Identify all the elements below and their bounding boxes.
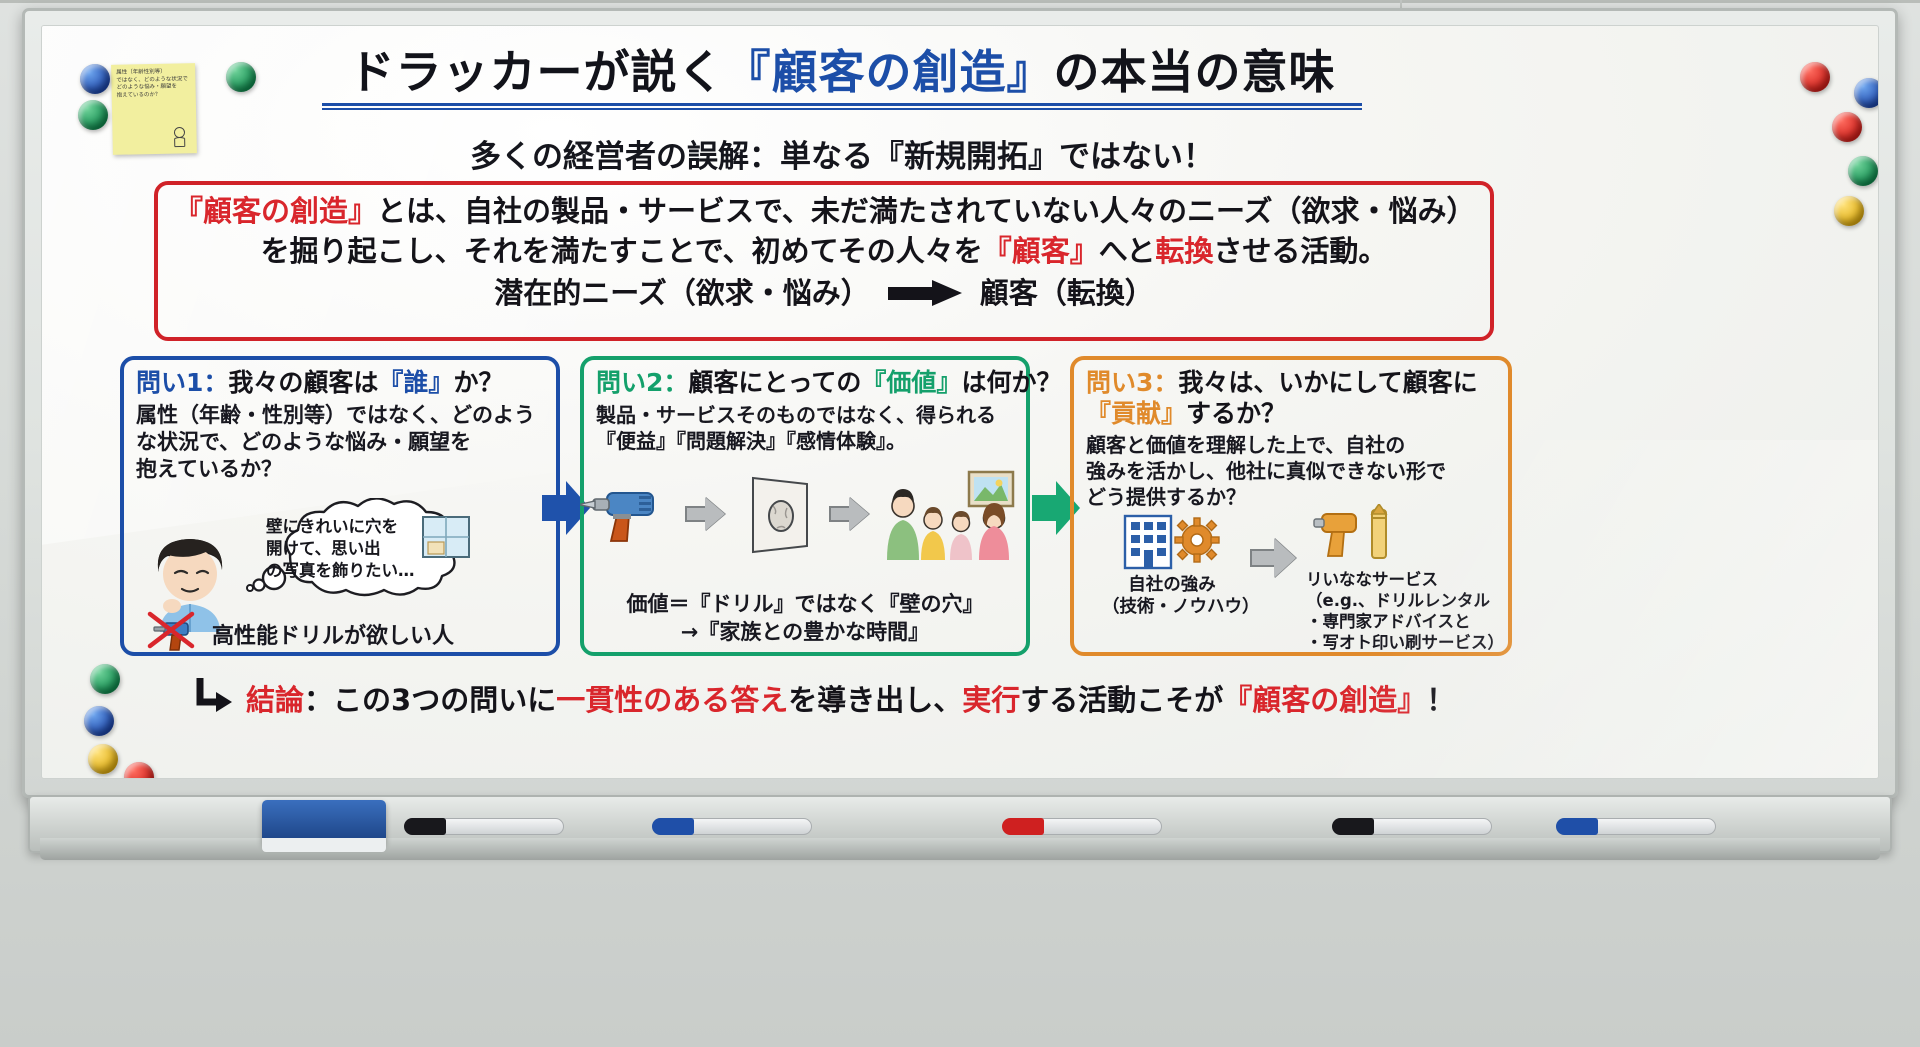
definition-flow-row: 潜在的ニーズ（欲求・悩み） 顧客（転換） xyxy=(170,273,1478,313)
definition-line-1-rest: とは、自社の製品・サービスで、未だ満たされていない人々のニーズ（欲求・悩み） xyxy=(377,194,1476,228)
question-3-head-post: するか？ xyxy=(1186,399,1286,428)
conclusion-t2: を導き出し、 xyxy=(788,683,962,717)
conclusion-label: 結論 xyxy=(246,683,304,717)
question-box-2[interactable]: 問い2：顧客にとっての『価値』は何か？ 製品・サービスそのものではなく、得られる… xyxy=(580,356,1030,656)
elbow-arrow-icon xyxy=(192,676,236,720)
question-1-heading: 問い1：我々の顧客は『誰』か？ xyxy=(136,368,544,399)
flow-to-label: 顧客（転換） xyxy=(980,273,1154,313)
conclusion-t3: する活動こそが xyxy=(1020,683,1223,717)
title-highlight: 『顧客の創造』 xyxy=(725,45,1054,99)
title-pre: ドラッカーが説く xyxy=(349,45,725,99)
definition-line-2-b: へと xyxy=(1099,234,1156,268)
bubble-line-1: 壁にきれいに穴を xyxy=(266,516,516,538)
crossed-out-drill-icon xyxy=(144,608,198,652)
question-1-label: 問い1： xyxy=(136,368,228,397)
whiteboard-eraser-felt xyxy=(262,838,386,852)
conclusion-text: 結論：この3つの問いに一貫性のある答えを導き出し、実行する活動こそが『顧客の創造… xyxy=(246,677,1455,719)
question-1-head-pre: 我々の顧客は xyxy=(228,368,378,397)
definition-line-2-a: を掘り起こし、それを満たすことで、初めてその人々を xyxy=(261,234,983,268)
gray-arrow-icon xyxy=(685,497,725,531)
conclusion-t1: ：この3つの問いに xyxy=(304,683,556,717)
question-2-heading: 問い2：顧客にとっての『価値』は何か？ xyxy=(596,368,1014,399)
bubble-line-3: の写真を飾りたい… xyxy=(266,560,516,582)
question-2-head-highlight: 『価値』 xyxy=(861,368,961,397)
question-1-body-line-2: な状況で、どのような悩み・願望を xyxy=(136,429,544,456)
gray-arrow-icon-3 xyxy=(1250,538,1296,578)
family-photo-icon xyxy=(881,468,1031,560)
question-2-body-line-2: 『便益』『問題解決』『感情体験』。 xyxy=(596,428,1014,454)
question-2-head-post: は何か？ xyxy=(961,368,1061,397)
marker-blue-cap xyxy=(652,818,694,835)
right-arrow-icon xyxy=(888,280,962,306)
question-1-body-line-3: 抱えているか？ xyxy=(136,456,544,483)
conclusion-highlight-3: 『顧客の創造』 xyxy=(1223,683,1426,717)
building-gear-icon xyxy=(1119,510,1225,570)
definition-line-1: 『顧客の創造』とは、自社の製品・サービスで、未だ満たされていない人々のニーズ（欲… xyxy=(170,191,1478,231)
title-underline xyxy=(322,103,1362,110)
page-title: ドラッカーが説く『顧客の創造』の本当の意味 xyxy=(292,48,1392,96)
question-1-bubble-text: 壁にきれいに穴を 開けて、思い出 の写真を飾りたい… xyxy=(266,516,516,581)
question-2-foot-line-2: →『家族との豊かな時間』 xyxy=(584,619,1026,646)
question-3-heading-line-2: 『貢献』するか？ xyxy=(1086,399,1496,430)
definition-kokyaku: 『顧客』 xyxy=(983,234,1099,268)
definition-tenkan: 転換 xyxy=(1155,234,1213,268)
question-1-head-post: か？ xyxy=(453,368,503,397)
subtitle: 多くの経営者の誤解：単なる『新規開拓』ではない！ xyxy=(292,131,1392,176)
question-box-1[interactable]: 問い1：我々の顧客は『誰』か？ 属性（年齢・性別等）ではなく、どのよう な状況で… xyxy=(120,356,560,656)
flow-from-label: 潜在的ニーズ（欲求・悩み） xyxy=(494,273,870,313)
question-3-body-line-2: 強みを活かし、他社に真似できない形で xyxy=(1086,458,1496,484)
question-2-label: 問い2： xyxy=(596,368,688,397)
question-3-head-pre: 我々は、いかにして顧客に xyxy=(1178,368,1477,397)
conclusion-row: 結論：この3つの問いに一貫性のある答えを導き出し、実行する活動こそが『顧客の創造… xyxy=(192,676,1522,720)
question-3-service-block: リいななサービス （e.g.、ドリルレンタル ・専門家アドバイスと ・写オト印い… xyxy=(1306,504,1516,654)
question-3-mid-arrow xyxy=(1250,538,1296,582)
question-2-footer: 価値＝『ドリル』ではなく『壁の穴』 →『家族との豊かな時間』 xyxy=(584,591,1026,646)
question-3-illustration: 自社の強み （技術・ノウハウ） xyxy=(1080,510,1510,660)
definition-line-2: を掘り起こし、それを満たすことで、初めてその人々を『顧客』へと転換させる活動。 xyxy=(170,231,1478,271)
drill-pen-icon xyxy=(1312,504,1408,566)
question-3-body-line-1: 顧客と価値を理解した上で、自社の xyxy=(1086,432,1496,458)
window-picture-icon xyxy=(420,514,472,560)
drill-icon xyxy=(577,485,673,543)
title-post: の本当の意味 xyxy=(1054,45,1336,99)
question-box-3[interactable]: 問い3：我々は、いかにして顧客に 『貢献』するか？ 顧客と価値を理解した上で、自… xyxy=(1070,356,1512,656)
question-1-head-highlight: 『誰』 xyxy=(378,368,453,397)
wall-seam-top xyxy=(0,0,1920,3)
question-3-right-line-1: リいななサービス xyxy=(1306,570,1516,591)
question-2-head-pre: 顧客にとっての xyxy=(688,368,861,397)
marker-red-cap xyxy=(1002,818,1044,835)
question-3-left-caption-2: （技術・ノウハウ） xyxy=(1102,596,1242,618)
board-content: ドラッカーが説く『顧客の創造』の本当の意味 多くの経営者の誤解：単なる『新規開拓… xyxy=(42,26,1878,778)
wall-hole-icon xyxy=(737,472,817,556)
marker-black-2-cap xyxy=(1332,818,1374,835)
question-1-foot-text: 高性能ドリルが欲しい人 xyxy=(212,618,454,650)
conclusion-highlight-2: 実行 xyxy=(962,683,1020,717)
whiteboard-surface[interactable]: 属性（年齢性別等） ではなく、どのような状況で どのような悩み・願望を 抱えてい… xyxy=(41,25,1879,779)
question-1-illustration: 壁にきれいに穴を 開けて、思い出 の写真を飾りたい… xyxy=(124,492,556,660)
question-3-strength-block: 自社の強み （技術・ノウハウ） xyxy=(1102,510,1242,618)
gray-arrow-icon-2 xyxy=(829,497,869,531)
definition-term: 『顧客の創造』 xyxy=(174,194,377,228)
question-3-label: 問い3： xyxy=(1086,368,1178,397)
question-2-illustration xyxy=(594,464,1014,564)
question-3-right-line-4: ・写オト印い刷サービス） xyxy=(1306,633,1516,654)
question-1-body-line-1: 属性（年齢・性別等）ではなく、どのよう xyxy=(136,402,544,429)
question-3-head-highlight: 『貢献』 xyxy=(1086,399,1186,428)
question-3-heading-line-1: 問い3：我々は、いかにして顧客に xyxy=(1086,368,1496,399)
whiteboard-frame: 属性（年齢性別等） ではなく、どのような状況で どのような悩み・願望を 抱えてい… xyxy=(22,8,1898,798)
definition-box: 『顧客の創造』とは、自社の製品・サービスで、未だ満たされていない人々のニーズ（欲… xyxy=(154,181,1494,341)
conclusion-t4: ！ xyxy=(1426,683,1455,717)
conclusion-highlight-1: 一貫性のある答え xyxy=(556,683,788,717)
marker-blue-2-cap xyxy=(1556,818,1598,835)
question-2-body-line-1: 製品・サービスそのものではなく、得られる xyxy=(596,402,1014,428)
marker-black-cap xyxy=(404,818,446,835)
room-background: 属性（年齢性別等） ではなく、どのような状況で どのような悩み・願望を 抱えてい… xyxy=(0,0,1920,1047)
bubble-line-2: 開けて、思い出 xyxy=(266,538,516,560)
definition-line-2-c: させる活動。 xyxy=(1213,234,1387,268)
question-3-right-line-3: ・専門家アドバイスと xyxy=(1306,612,1516,633)
title-block: ドラッカーが説く『顧客の創造』の本当の意味 xyxy=(292,48,1392,110)
question-3-left-caption-1: 自社の強み xyxy=(1102,574,1242,596)
question-3-right-line-2: （e.g.、ドリルレンタル xyxy=(1306,591,1516,612)
question-2-foot-line-1: 価値＝『ドリル』ではなく『壁の穴』 xyxy=(584,591,1026,618)
question-1-footer: 高性能ドリルが欲しい人 xyxy=(148,612,454,656)
